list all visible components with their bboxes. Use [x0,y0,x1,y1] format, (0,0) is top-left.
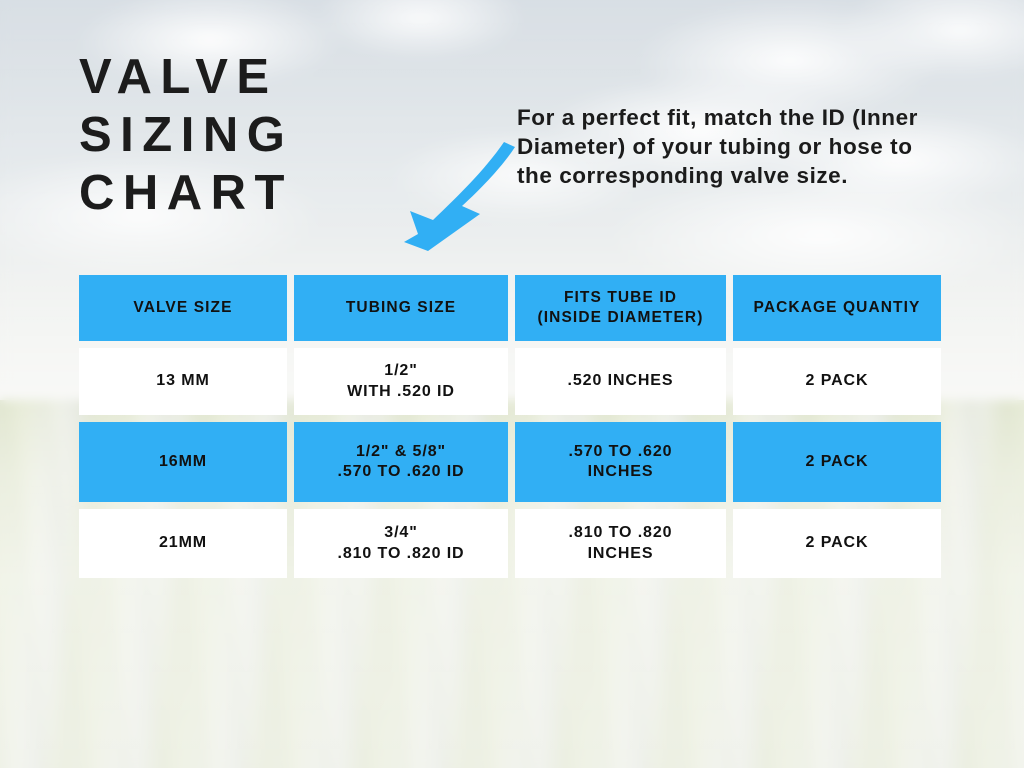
cell-fits-tube-id: .570 TO .620 INCHES [515,422,726,502]
cell-package-quantity: 2 PACK [733,422,941,502]
table-row: 16MM 1/2" & 5/8" .570 TO .620 ID .570 TO… [79,422,941,502]
column-header-tubing-size: TUBING SIZE [294,275,508,341]
callout-instruction-text: For a perfect fit, match the ID (Inner D… [517,103,937,190]
cell-package-quantity: 2 PACK [733,509,941,578]
cell-package-quantity: 2 PACK [733,348,941,415]
cell-valve-size: 13 MM [79,348,287,415]
infographic-canvas: VALVE SIZING CHART For a perfect fit, ma… [0,0,1024,768]
table-row: 21MM 3/4" .810 TO .820 ID .810 TO .820 I… [79,509,941,578]
column-header-fits-tube-id: FITS TUBE ID (INSIDE DIAMETER) [515,275,726,341]
cell-tubing-size: 1/2" & 5/8" .570 TO .620 ID [294,422,508,502]
cell-tubing-size: 1/2" WITH .520 ID [294,348,508,415]
cell-valve-size: 16MM [79,422,287,502]
table-header-row: VALVE SIZE TUBING SIZE FITS TUBE ID (INS… [79,275,941,341]
cell-fits-tube-id: .520 INCHES [515,348,726,415]
cell-fits-tube-id: .810 TO .820 INCHES [515,509,726,578]
column-header-valve-size: VALVE SIZE [79,275,287,341]
table-row: 13 MM 1/2" WITH .520 ID .520 INCHES 2 PA… [79,348,941,415]
cell-tubing-size: 3/4" .810 TO .820 ID [294,509,508,578]
curved-arrow-down-left-icon [392,138,522,268]
valve-sizing-table: VALVE SIZE TUBING SIZE FITS TUBE ID (INS… [79,275,941,578]
column-header-package-quantity: PACKAGE QUANTIY [733,275,941,341]
cell-valve-size: 21MM [79,509,287,578]
